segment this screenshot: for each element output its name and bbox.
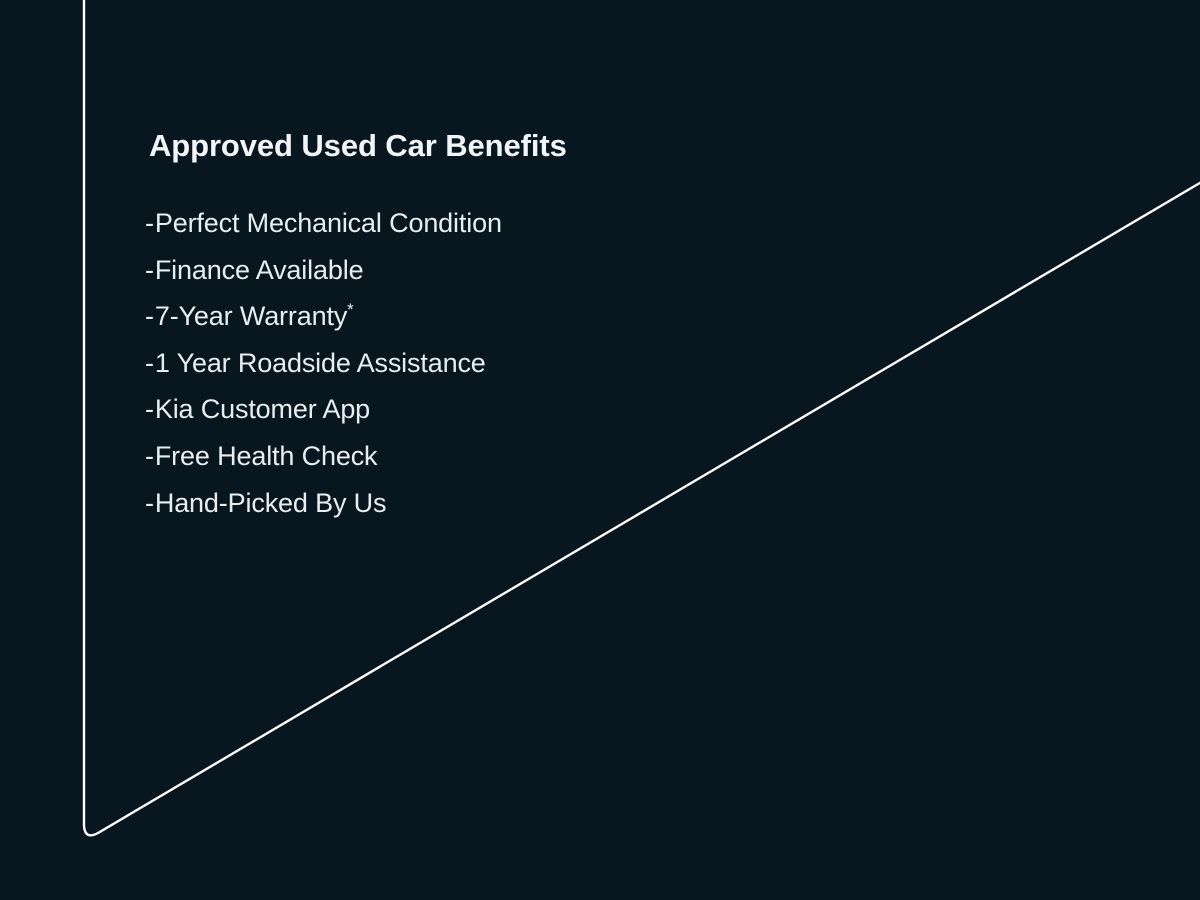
bullet-dash-icon: - <box>145 293 154 340</box>
list-item-label: Finance Available <box>155 247 364 294</box>
bullet-dash-icon: - <box>145 247 154 294</box>
list-item: - Kia Customer App <box>145 386 845 433</box>
page-title: Approved Used Car Benefits <box>145 130 845 161</box>
bullet-dash-icon: - <box>145 340 154 387</box>
list-item-label: Hand-Picked By Us <box>155 480 387 527</box>
bullet-dash-icon: - <box>145 480 154 527</box>
list-item: - 7-Year Warranty* <box>145 293 845 340</box>
bullet-dash-icon: - <box>145 386 154 433</box>
list-item: - 1 Year Roadside Assistance <box>145 340 845 387</box>
bullet-dash-icon: - <box>145 200 154 247</box>
list-item-label: Perfect Mechanical Condition <box>155 200 502 247</box>
list-item-label: 1 Year Roadside Assistance <box>155 340 486 387</box>
list-item: - Perfect Mechanical Condition <box>145 200 845 247</box>
benefits-content-block: Approved Used Car Benefits - Perfect Mec… <box>145 130 845 487</box>
list-item-label: 7-Year Warranty* <box>155 293 354 340</box>
list-item-label: Kia Customer App <box>155 386 370 433</box>
list-item-footnote: * <box>347 300 353 319</box>
list-item: - Hand-Picked By Us <box>145 480 845 527</box>
benefits-list: - Perfect Mechanical Condition - Finance… <box>145 200 845 526</box>
bullet-dash-icon: - <box>145 433 154 480</box>
slide-canvas: Approved Used Car Benefits - Perfect Mec… <box>0 0 1200 900</box>
list-item: - Free Health Check <box>145 433 845 480</box>
list-item-label: Free Health Check <box>155 433 378 480</box>
list-item: - Finance Available <box>145 247 845 294</box>
